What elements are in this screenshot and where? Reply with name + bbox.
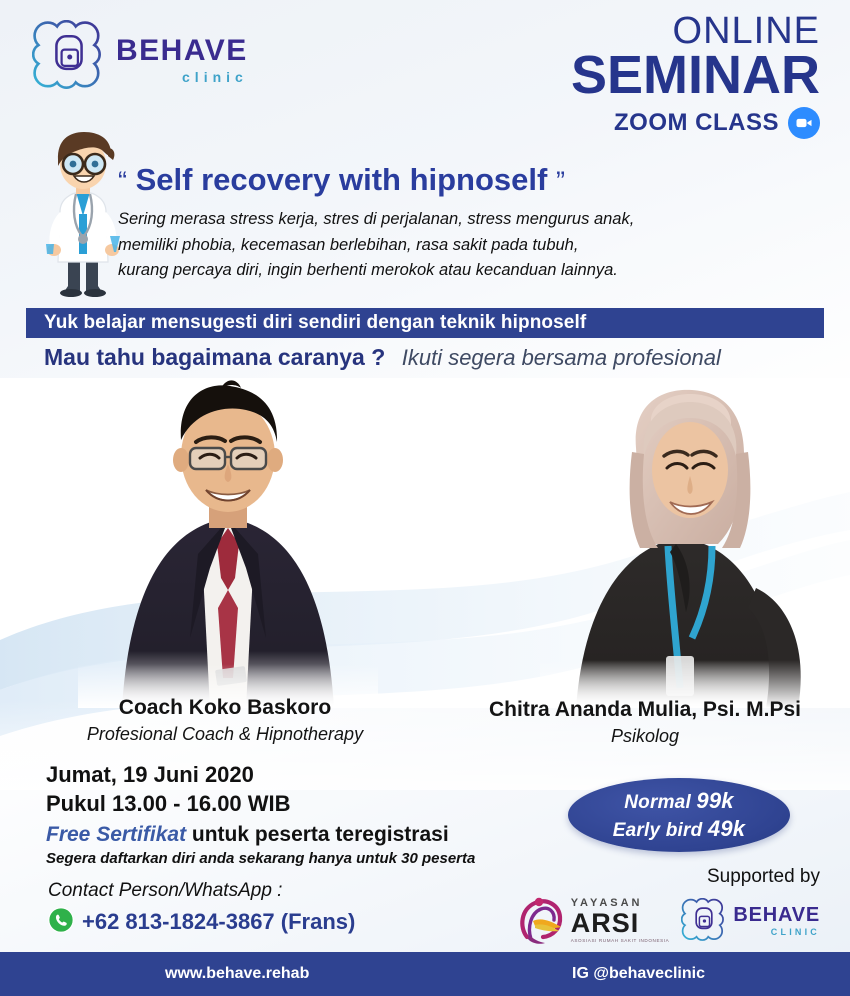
quote-open: “	[118, 166, 127, 196]
subline-answer: Ikuti segera bersama profesional	[402, 345, 721, 370]
supported-by-block: Supported by YAYASAN ARSI ASOSIASI RUMAH…	[517, 866, 820, 947]
speaker-name: Chitra Ananda Mulia, Psi. M.Psi	[450, 697, 840, 723]
registration-note: Segera daftarkan diri anda sekarang hany…	[46, 850, 566, 867]
event-time: Pukul 13.00 - 16.00 WIB	[46, 789, 566, 818]
intro-line: memiliki phobia, kecemasan berlebihan, r…	[118, 233, 833, 259]
speaker-role: Profesional Coach & Hipnotherapy	[30, 723, 420, 746]
poster-footer: www.behave.rehab IG @behaveclinic	[0, 952, 850, 996]
price-normal-value: 99k	[696, 788, 733, 813]
speaker-photo-female	[540, 388, 840, 708]
certificate-line: Free Sertifikat untuk peserta teregistra…	[46, 820, 566, 849]
price-normal-row: Normal 99k	[624, 787, 733, 815]
certificate-highlight: Free Sertifikat	[46, 823, 186, 846]
footer-instagram[interactable]: IG @behaveclinic	[572, 965, 705, 983]
price-early-value: 49k	[708, 816, 745, 841]
price-early-row: Early bird 49k	[613, 815, 745, 843]
quote-close: ”	[556, 166, 565, 196]
intro-line: kurang percaya diri, ingin berhenti mero…	[118, 258, 833, 284]
speaker-photo-male	[78, 378, 378, 708]
sponsor-behave-text: BEHAVE	[733, 905, 820, 925]
speaker-photos-area	[0, 378, 850, 708]
hero-title-text: Self recovery with hipnoself	[136, 162, 548, 197]
contact-label: Contact Person/WhatsApp :	[48, 878, 478, 904]
speaker-role: Psikolog	[450, 725, 840, 748]
arsi-sub-text: ASOSIASI RUMAH SAKIT INDONESIA	[571, 939, 670, 944]
contact-phone-row[interactable]: +62 813-1824-3867 (Frans)	[48, 907, 478, 938]
yayasan-arsi-logo-icon	[517, 895, 567, 947]
speaker-info-left: Coach Koko Baskoro Profesional Coach & H…	[30, 695, 420, 747]
hero-intro-paragraph: Sering merasa stress kerja, stres di per…	[118, 207, 833, 284]
whatsapp-icon[interactable]	[48, 907, 74, 938]
header-titles: ONLINE SEMINAR ZOOM CLASS	[571, 12, 820, 139]
yayasan-arsi-logo: YAYASAN ARSI ASOSIASI RUMAH SAKIT INDONE…	[517, 895, 670, 947]
intro-line: Sering merasa stress kerja, stres di per…	[118, 207, 833, 233]
subline-question: Mau tahu bagaimana caranya ?	[44, 344, 385, 370]
sponsor-logos: YAYASAN ARSI ASOSIASI RUMAH SAKIT INDONE…	[517, 895, 820, 947]
event-date: Jumat, 19 Juni 2020	[46, 760, 566, 789]
footer-website[interactable]: www.behave.rehab	[165, 965, 309, 983]
hero-title: “ Self recovery with hipnoself ”	[118, 163, 838, 197]
sponsor-clinic-text: CLINIC	[733, 928, 820, 937]
header-zoom-class-label: ZOOM CLASS	[614, 109, 779, 137]
header-seminar-label: SEMINAR	[571, 50, 820, 101]
seminar-poster: BEHAVE clinic ONLINE SEMINAR ZOOM CLASS	[0, 0, 850, 996]
contact-phone[interactable]: +62 813-1824-3867 (Frans)	[82, 909, 355, 935]
price-early-label: Early bird	[613, 820, 708, 841]
behave-cross-logo-icon	[32, 20, 106, 94]
logo-behave-text: BEHAVE	[116, 36, 248, 66]
price-normal-label: Normal	[624, 792, 696, 813]
subline-row: Mau tahu bagaimana caranya ? Ikuti seger…	[44, 344, 834, 371]
behave-clinic-sponsor-logo: BEHAVE CLINIC	[681, 898, 820, 944]
zoom-video-camera-icon	[788, 107, 820, 139]
speaker-name: Coach Koko Baskoro	[30, 695, 420, 721]
behave-clinic-logo-icon	[681, 898, 727, 944]
highlight-banner-text: Yuk belajar mensugesti diri sendiri deng…	[26, 312, 586, 334]
price-badge: Normal 99k Early bird 49k	[568, 778, 790, 852]
highlight-banner: Yuk belajar mensugesti diri sendiri deng…	[26, 308, 824, 338]
arsi-main-text: ARSI	[571, 910, 670, 937]
header-zoom-row: ZOOM CLASS	[571, 107, 820, 139]
event-details: Jumat, 19 Juni 2020 Pukul 13.00 - 16.00 …	[46, 760, 566, 867]
behave-clinic-logo: BEHAVE clinic	[32, 20, 248, 94]
logo-clinic-text: clinic	[116, 70, 248, 84]
contact-block: Contact Person/WhatsApp : +62 813-1824-3…	[48, 878, 478, 938]
speaker-info-right: Chitra Ananda Mulia, Psi. M.Psi Psikolog	[450, 697, 840, 749]
certificate-rest: untuk peserta teregistrasi	[186, 823, 449, 846]
supported-by-label: Supported by	[517, 866, 820, 889]
hero-text-block: “ Self recovery with hipnoself ” Sering …	[118, 163, 838, 284]
